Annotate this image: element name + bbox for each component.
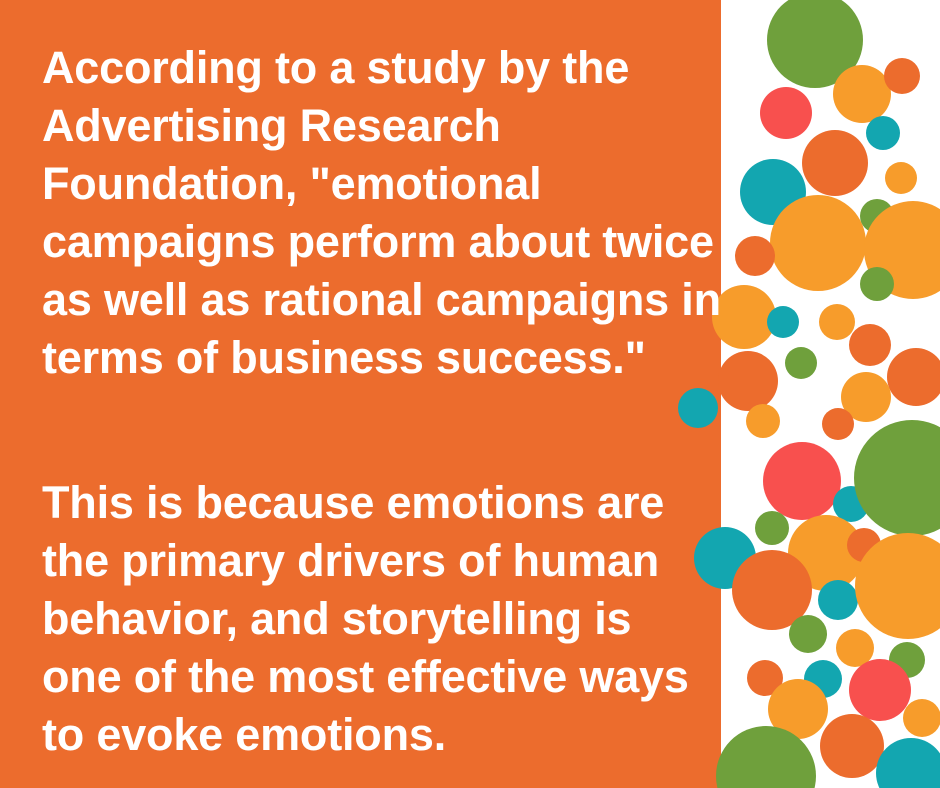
decorative-dot xyxy=(833,486,869,522)
decorative-dot xyxy=(822,408,854,440)
decorative-dot xyxy=(849,324,891,366)
quote-card: According to a study by the Advertising … xyxy=(0,0,940,788)
decorative-dot xyxy=(847,528,881,562)
decorative-dot xyxy=(864,201,940,299)
decorative-dot xyxy=(735,236,775,276)
decorative-dot xyxy=(836,629,874,667)
decorative-dot xyxy=(804,660,842,698)
decorative-dot xyxy=(860,267,894,301)
decorative-dot xyxy=(841,372,891,422)
decorative-dot xyxy=(768,679,828,739)
decorative-dot xyxy=(855,533,940,639)
quote-text-block: According to a study by the Advertising … xyxy=(42,0,722,788)
decorative-dot xyxy=(818,580,858,620)
decorative-dot xyxy=(740,159,806,225)
decorative-dot xyxy=(903,699,940,737)
decorative-dot xyxy=(876,738,940,788)
decorative-dot xyxy=(820,714,884,778)
decorative-dot xyxy=(785,347,817,379)
decorative-dot xyxy=(887,348,940,406)
decorative-dot xyxy=(716,726,816,788)
decorative-dot xyxy=(884,58,920,94)
decorative-dot xyxy=(849,659,911,721)
decorative-dot xyxy=(866,116,900,150)
decorative-dot xyxy=(747,660,783,696)
decorative-dot xyxy=(746,404,780,438)
quote-paragraph-secondary: This is because emotions are the primary… xyxy=(42,474,722,764)
decorative-dot xyxy=(860,199,894,233)
decorative-dot xyxy=(889,642,925,678)
decorative-dot xyxy=(767,0,863,88)
quote-paragraph-primary: According to a study by the Advertising … xyxy=(42,39,722,387)
decorative-dot xyxy=(789,615,827,653)
decorative-dot xyxy=(770,195,866,291)
decorative-dot xyxy=(763,442,841,520)
decorative-dot xyxy=(819,304,855,340)
decorative-dot xyxy=(767,306,799,338)
decorative-dot xyxy=(755,511,789,545)
decorative-dot xyxy=(854,420,940,536)
decorative-dot xyxy=(732,550,812,630)
decorative-dot xyxy=(760,87,812,139)
decorative-dot xyxy=(802,130,868,196)
decorative-dot xyxy=(833,65,891,123)
decorative-dot xyxy=(788,515,864,591)
decorative-dot xyxy=(718,351,778,411)
decorative-dot xyxy=(885,162,917,194)
